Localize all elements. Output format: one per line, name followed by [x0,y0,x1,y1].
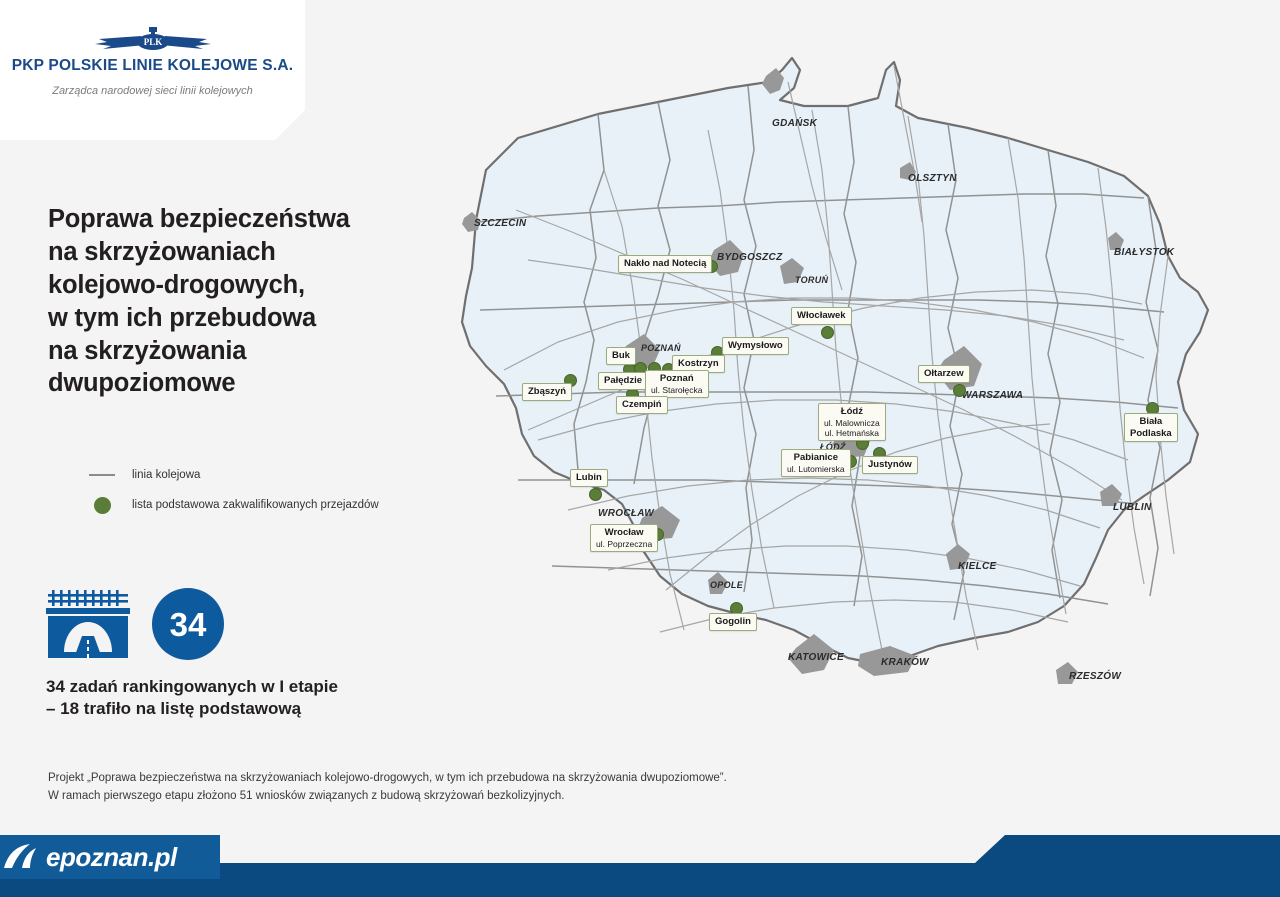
crossing-chip[interactable]: Czempiń [616,396,668,414]
railway-bridge-viaduct-icon [46,588,130,660]
legend-item-rail-line: linia kolejowa [84,460,414,490]
crossing-chip-label: Kostrzyn [678,358,719,369]
plk-winged-emblem-icon: PLK [93,26,213,54]
crossing-chip[interactable]: Wymysłowo [722,337,789,355]
crossing-chip-label: Wrocław [605,527,644,538]
crossing-chip-sublabel: ul. Malownicza ul. Hetmańska [824,418,880,439]
legend-label: linia kolejowa [132,469,200,481]
map-country-shape [462,58,1208,664]
green-dot-icon [84,497,120,514]
crossing-chip[interactable]: Włocławek [791,307,852,325]
crossing-chip-label: Biała Podlaska [1130,416,1172,439]
stat-block: 34 34 zadań rankingowanych w I etapie – … [46,588,338,721]
map-city-label: SZCZECIN [474,218,526,229]
map-city-label: LUBLIN [1113,502,1151,513]
crossing-chip[interactable]: Lubin [570,469,608,487]
poland-map: GDAŃSK SZCZECIN OLSZTYN BIAŁYSTOK BYDGOS… [408,10,1280,800]
crossing-chip[interactable]: Łódźul. Malownicza ul. Hetmańska [818,403,886,441]
crossing-chip[interactable]: Zbąszyń [522,383,572,401]
epoznan-label: epoznan.pl [46,842,177,873]
map-city-label: BYDGOSZCZ [717,252,782,263]
crossing-chip-label: Pałędzie [604,375,642,386]
epoznan-watermark[interactable]: epoznan.pl [0,835,220,879]
rail-line-icon [84,474,120,476]
crossing-chip-label: Nakło nad Notecią [624,258,706,269]
crossing-chip-sublabel: ul. Poprzeczna [596,539,652,549]
crossing-dot[interactable] [953,384,966,397]
crossing-dot[interactable] [589,488,602,501]
map-city-label: BIAŁYSTOK [1114,247,1174,258]
crossing-chip-label: Łódź [841,406,863,417]
project-description: Projekt „Poprawa bezpieczeństwa na skrzy… [48,770,838,806]
crossing-chip-label: Lubin [576,472,602,483]
crossing-chip-sublabel: ul. Starołęcka [651,385,703,395]
crossing-chip-label: Pabianice [794,452,838,463]
company-name: PKP POLSKIE LINIE KOLEJOWE S.A. [0,57,305,75]
crossing-chip-label: Czempiń [622,399,662,410]
crossing-chip-label: Włocławek [797,310,846,321]
page-title: Poprawa bezpieczeństwa na skrzyżowaniach… [48,203,428,400]
map-city-label: GDAŃSK [772,118,817,129]
crossing-chip[interactable]: Poznańul. Starołęcka [645,370,709,398]
crossing-chip-label: Poznań [660,373,694,384]
map-legend: linia kolejowa lista podstawowa zakwalif… [84,460,414,520]
plk-emblem-text: PLK [143,37,162,47]
crossing-chip[interactable]: Gogolin [709,613,757,631]
crossing-chip[interactable]: Wrocławul. Poprzeczna [590,524,658,552]
crossing-chip[interactable]: Pabianiceul. Lutomierska [781,449,851,477]
stat-count-badge: 34 [152,588,224,660]
crossing-chip-sublabel: ul. Lutomierska [787,464,845,474]
crossing-chip-label: Zbąszyń [528,386,566,397]
map-city-label: KATOWICE [788,652,844,663]
stat-icons-row: 34 [46,588,338,660]
crossing-dot[interactable] [821,326,834,339]
crossing-chip[interactable]: Justynów [862,456,918,474]
crossing-chip[interactable]: Buk [606,347,636,365]
crossing-chip[interactable]: Nakło nad Notecią [618,255,712,273]
crossing-chip-label: Justynów [868,459,912,470]
map-city-label: WROCŁAW [598,508,654,519]
map-city-label: OLSZTYN [908,173,957,184]
crossing-chip-label: Ołtarzew [924,368,964,379]
crossing-chip[interactable]: Ołtarzew [918,365,970,383]
map-city-label: WARSZAWA [962,390,1023,401]
map-city-label: RZESZÓW [1069,671,1121,682]
stat-caption: 34 zadań rankingowanych w I etapie – 18 … [46,676,338,721]
stat-count-value: 34 [170,608,207,641]
company-tagline: Zarządca narodowej sieci linii kolejowyc… [0,85,305,97]
epoznan-swoosh-icon [0,840,42,874]
crossing-chip-label: Gogolin [715,616,751,627]
crossing-chip-label: Wymysłowo [728,340,783,351]
legend-item-crossing-dot: lista podstawowa zakwalifikowanych przej… [84,490,414,520]
pkp-plk-logo-card: PLK PKP POLSKIE LINIE KOLEJOWE S.A. Zarz… [0,0,305,140]
map-city-label: OPOLE [710,580,743,590]
crossing-chip[interactable]: Biała Podlaska [1124,413,1178,442]
crossing-chip-label: Buk [612,350,630,361]
crossing-chip[interactable]: Pałędzie [598,372,648,390]
map-city-label: TORUŃ [795,275,828,285]
map-city-label: KRAKÓW [881,657,929,668]
map-city-label: POZNAŃ [641,343,681,353]
map-city-label: KIELCE [958,561,996,572]
legend-label: lista podstawowa zakwalifikowanych przej… [132,499,379,511]
